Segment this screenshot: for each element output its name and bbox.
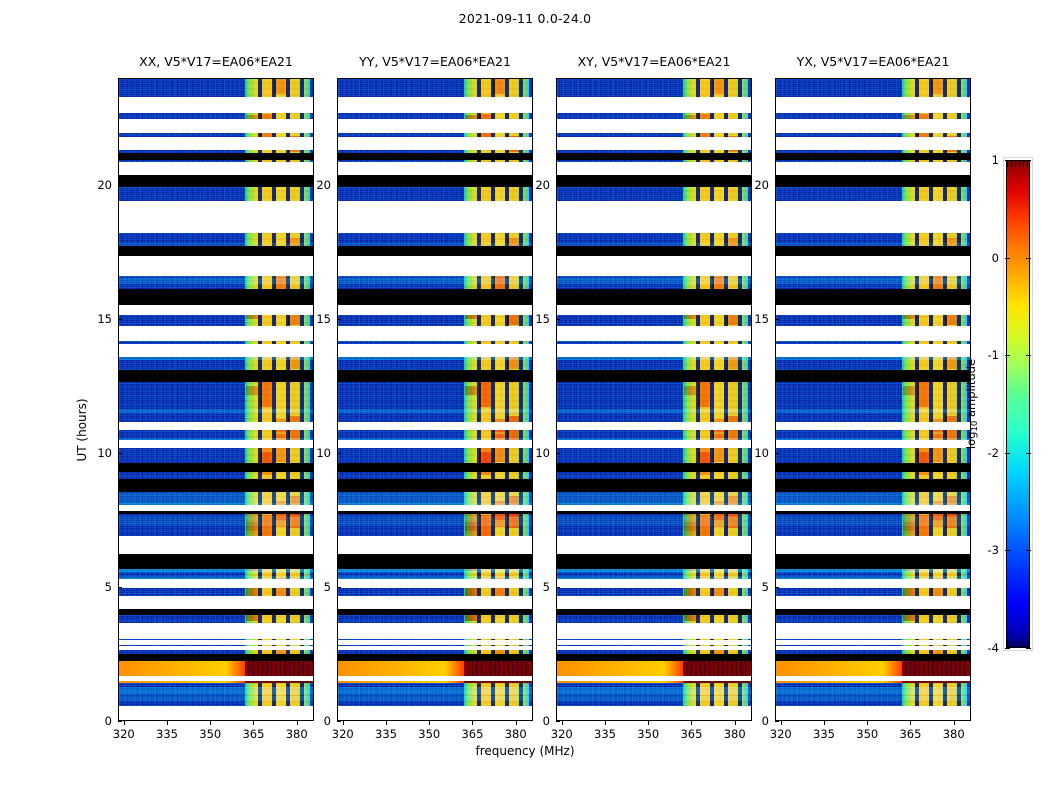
flagged-data-row: [776, 137, 970, 150]
colorbar-tick: [1026, 453, 1031, 454]
scan-boundary-row: [776, 463, 970, 472]
x-tick: [253, 721, 254, 725]
flagged-data-row: [776, 256, 970, 267]
flagged-data-row: [338, 640, 532, 645]
flagged-data-row: [119, 583, 313, 588]
y-tick-label: 15: [316, 312, 331, 326]
flagged-data-row: [557, 422, 751, 430]
flagged-data-row: [776, 422, 970, 430]
rfi-hot-block: [698, 378, 710, 407]
y-tick-label: 5: [105, 580, 112, 594]
flagged-data-row: [338, 583, 532, 588]
flagged-data-row: [119, 213, 313, 228]
y-tick: [775, 185, 779, 186]
flagged-data-row: [119, 97, 313, 113]
flagged-data-row: [776, 583, 970, 588]
flagged-data-row: [557, 623, 751, 639]
flagged-data-row: [338, 536, 532, 549]
dynamic-spectrum-image: [776, 79, 970, 720]
flagged-data-row: [119, 422, 313, 430]
flagged-data-row: [338, 327, 532, 334]
colorbar-overflow-marker-bottom: [1007, 641, 1029, 647]
time-variable-row: [338, 696, 532, 701]
y-tick: [118, 721, 122, 722]
y-tick: [556, 185, 560, 186]
panel-title: YY, V5*V17=EA06*EA21: [359, 54, 511, 69]
figure-canvas: 2021-09-11 0.0-24.0 XX, V5*V17=EA06*EA21…: [0, 0, 1050, 800]
time-variable-row: [119, 516, 313, 527]
x-tick-label: 365: [680, 727, 702, 741]
y-tick-label: 0: [762, 714, 769, 728]
y-tick-label: 10: [97, 446, 112, 460]
flagged-data-row: [338, 596, 532, 609]
flagged-data-row: [338, 676, 532, 681]
x-tick-label: 365: [242, 727, 264, 741]
flagged-data-row: [557, 305, 751, 314]
time-variable-row: [776, 687, 970, 695]
flagged-data-row: [557, 596, 751, 609]
flagged-data-row: [776, 596, 970, 609]
y-tick: [337, 453, 341, 454]
spectrogram-axes[interactable]: [337, 78, 533, 721]
flagged-data-row: [338, 349, 532, 357]
rfi-hot-block: [903, 386, 915, 395]
scan-boundary-row: [119, 289, 313, 305]
x-tick-label: 335: [375, 727, 397, 741]
spectrogram-axes[interactable]: [118, 78, 314, 721]
x-tick-label: 320: [551, 727, 573, 741]
flagged-data-row: [338, 256, 532, 267]
x-tick-label: 350: [199, 727, 221, 741]
flagged-data-row: [338, 706, 532, 720]
time-variable-row: [119, 409, 313, 413]
flagged-data-row: [338, 422, 532, 430]
colorbar-tick-label: -3: [988, 543, 999, 557]
scan-boundary-row: [557, 175, 751, 186]
flagged-data-row: [776, 305, 970, 314]
flagged-data-row: [557, 97, 751, 113]
time-variable-row: [338, 687, 532, 695]
colorbar-tick: [1026, 258, 1031, 259]
spectrogram-axes[interactable]: [556, 78, 752, 721]
flagged-data-row: [776, 97, 970, 113]
y-tick-label: 20: [97, 178, 112, 192]
colorbar-tick: [1026, 648, 1031, 649]
colorbar-label-suffix: amplitude: [964, 359, 978, 421]
x-tick: [910, 721, 911, 725]
y-tick-label: 5: [543, 580, 550, 594]
rfi-hot-block: [465, 386, 477, 395]
flagged-data-row: [776, 327, 970, 334]
colorbar-tick: [1026, 355, 1031, 356]
flagged-data-row: [557, 137, 751, 150]
x-tick: [210, 721, 211, 725]
time-variable-row: [338, 516, 532, 527]
colorbar-tick: [1005, 453, 1010, 454]
x-tick: [297, 721, 298, 725]
scan-boundary-row: [557, 554, 751, 569]
y-tick-label: 10: [535, 446, 550, 460]
colorbar-overflow-marker-top: [1007, 161, 1029, 167]
x-tick: [124, 721, 125, 725]
colorbar-tick-label: -4: [988, 641, 999, 655]
scan-boundary-row: [119, 370, 313, 382]
time-variable-row: [557, 696, 751, 701]
flagged-data-row: [557, 646, 751, 650]
y-tick: [337, 319, 341, 320]
flagged-data-row: [119, 137, 313, 150]
y-tick-label: 0: [543, 714, 550, 728]
scan-boundary-row: [776, 482, 970, 492]
y-tick: [118, 453, 122, 454]
time-variable-row: [776, 516, 970, 527]
flagged-data-row: [338, 305, 532, 314]
x-tick: [429, 721, 430, 725]
panel-yx: YX, V5*V17=EA06*EA2132033535036538005101…: [775, 78, 971, 721]
flagged-data-row: [776, 623, 970, 639]
y-tick: [337, 587, 341, 588]
flagged-data-row: [338, 137, 532, 150]
time-variable-row: [776, 278, 970, 284]
panel-yy: YY, V5*V17=EA06*EA2132033535036538005101…: [337, 78, 533, 721]
flagged-data-row: [776, 706, 970, 720]
flagged-data-row: [338, 646, 532, 650]
y-tick-label: 10: [316, 446, 331, 460]
x-tick-label: 380: [505, 727, 527, 741]
flagged-data-row: [119, 119, 313, 132]
time-variable-row: [776, 409, 970, 413]
scan-boundary-row: [338, 463, 532, 472]
rfi-hot-block: [684, 386, 696, 395]
y-tick: [118, 587, 122, 588]
rfi-hot-block: [917, 378, 929, 407]
flagged-data-row: [119, 440, 313, 448]
scan-boundary-row: [557, 654, 751, 661]
colorbar-label-prefix: log: [964, 432, 978, 450]
x-tick-label: 350: [856, 727, 878, 741]
scan-boundary-row: [776, 654, 970, 661]
y-tick: [775, 587, 779, 588]
time-variable-row: [119, 696, 313, 701]
scan-boundary-row: [338, 153, 532, 160]
rfi-hot-block: [931, 78, 943, 94]
y-tick: [556, 721, 560, 722]
y-tick: [118, 319, 122, 320]
x-tick: [516, 721, 517, 725]
x-tick: [386, 721, 387, 725]
flagged-data-row: [776, 505, 970, 511]
flagged-data-row: [557, 440, 751, 448]
flagged-data-row: [338, 119, 532, 132]
y-tick-label: 5: [324, 580, 331, 594]
x-tick-label: 320: [113, 727, 135, 741]
y-tick: [775, 319, 779, 320]
x-tick: [648, 721, 649, 725]
scan-boundary-row: [119, 153, 313, 160]
scan-boundary-row: [338, 175, 532, 186]
panel-title: YX, V5*V17=EA06*EA21: [797, 54, 950, 69]
flagged-data-row: [338, 505, 532, 511]
y-tick-label: 20: [316, 178, 331, 192]
time-variable-row: [557, 409, 751, 413]
flagged-data-row: [557, 505, 751, 511]
rfi-hot-block: [479, 378, 491, 407]
scan-boundary-row: [557, 463, 751, 472]
scan-boundary-row: [338, 370, 532, 382]
scan-boundary-row: [338, 654, 532, 661]
flagged-data-row: [119, 505, 313, 511]
dynamic-spectrum-image: [119, 79, 313, 720]
flagged-data-row: [119, 646, 313, 650]
y-tick: [337, 721, 341, 722]
time-variable-row: [776, 696, 970, 701]
colorbar-tick: [1026, 550, 1031, 551]
flagged-data-row: [776, 640, 970, 645]
scan-boundary-row: [557, 482, 751, 492]
y-tick-label: 15: [754, 312, 769, 326]
x-tick: [167, 721, 168, 725]
time-variable-row: [338, 409, 532, 413]
time-variable-row: [338, 278, 532, 284]
colorbar-tick: [1005, 355, 1010, 356]
flagged-data-row: [119, 305, 313, 314]
scan-boundary-row: [119, 554, 313, 569]
scan-boundary-row: [119, 482, 313, 492]
y-tick-label: 0: [324, 714, 331, 728]
y-tick-label: 20: [535, 178, 550, 192]
flagged-data-row: [119, 676, 313, 681]
rfi-hot-block: [246, 386, 258, 395]
y-tick-label: 20: [754, 178, 769, 192]
x-tick-label: 380: [724, 727, 746, 741]
colorbar-label: log10 amplitude: [964, 359, 980, 449]
y-tick: [118, 185, 122, 186]
colorbar-gradient: [1006, 160, 1030, 648]
flagged-data-row: [338, 97, 532, 113]
x-tick: [781, 721, 782, 725]
y-axis-label: UT (hours): [75, 398, 89, 461]
flagged-data-row: [557, 327, 751, 334]
x-tick-label: 380: [286, 727, 308, 741]
scan-boundary-row: [119, 175, 313, 186]
dynamic-spectrum-image: [557, 79, 751, 720]
x-axis-label: frequency (MHz): [0, 744, 1050, 758]
x-tick: [562, 721, 563, 725]
flagged-data-row: [776, 440, 970, 448]
scan-boundary-row: [119, 463, 313, 472]
flagged-data-row: [557, 536, 751, 549]
flagged-data-row: [776, 536, 970, 549]
x-tick-label: 335: [594, 727, 616, 741]
flagged-data-row: [119, 706, 313, 720]
y-tick-label: 0: [105, 714, 112, 728]
flagged-data-row: [338, 213, 532, 228]
x-tick-label: 335: [813, 727, 835, 741]
flagged-data-row: [776, 676, 970, 681]
x-tick: [735, 721, 736, 725]
x-tick: [691, 721, 692, 725]
x-tick-label: 380: [943, 727, 965, 741]
panel-xx: XX, V5*V17=EA06*EA2132033535036538005101…: [118, 78, 314, 721]
x-tick: [954, 721, 955, 725]
time-variable-row: [119, 687, 313, 695]
flagged-data-row: [557, 583, 751, 588]
x-tick: [472, 721, 473, 725]
x-tick: [824, 721, 825, 725]
panel-title: XY, V5*V17=EA06*EA21: [578, 54, 731, 69]
scan-boundary-row: [776, 554, 970, 569]
flagged-data-row: [119, 640, 313, 645]
rfi-hot-block: [493, 78, 505, 94]
y-tick: [775, 721, 779, 722]
colorbar-tick: [1005, 550, 1010, 551]
x-tick-label: 320: [332, 727, 354, 741]
y-tick-label: 15: [97, 312, 112, 326]
scan-boundary-row: [557, 289, 751, 305]
flagged-data-row: [776, 119, 970, 132]
flagged-data-row: [119, 349, 313, 357]
y-tick-label: 15: [535, 312, 550, 326]
colorbar-label-subscript: 10: [970, 421, 980, 432]
flagged-data-row: [557, 640, 751, 645]
scan-boundary-row: [776, 370, 970, 382]
colorbar[interactable]: 10-1-2-3-4: [1006, 160, 1030, 648]
y-tick-label: 10: [754, 446, 769, 460]
colorbar-tick: [1005, 258, 1010, 259]
x-tick: [343, 721, 344, 725]
scan-boundary-row: [338, 482, 532, 492]
time-variable-row: [557, 278, 751, 284]
colorbar-tick-label: -1: [988, 348, 999, 362]
flagged-data-row: [557, 213, 751, 228]
colorbar-tick-label: -2: [988, 446, 999, 460]
scan-boundary-row: [338, 289, 532, 305]
flagged-data-row: [338, 440, 532, 448]
x-tick-label: 350: [637, 727, 659, 741]
flagged-data-row: [557, 706, 751, 720]
rfi-hot-block: [274, 78, 286, 94]
x-tick-label: 335: [156, 727, 178, 741]
panel-xy: XY, V5*V17=EA06*EA2132033535036538005101…: [556, 78, 752, 721]
colorbar-tick: [1005, 648, 1010, 649]
scan-boundary-row: [338, 554, 532, 569]
x-tick: [605, 721, 606, 725]
y-tick: [775, 453, 779, 454]
flagged-data-row: [119, 596, 313, 609]
y-tick: [337, 185, 341, 186]
scan-boundary-row: [119, 654, 313, 661]
flagged-data-row: [119, 256, 313, 267]
x-tick-label: 365: [899, 727, 921, 741]
figure-suptitle: 2021-09-11 0.0-24.0: [0, 11, 1050, 26]
scan-boundary-row: [776, 175, 970, 186]
rfi-hot-block: [260, 378, 272, 407]
scan-boundary-row: [557, 370, 751, 382]
time-variable-row: [557, 687, 751, 695]
x-tick-label: 320: [770, 727, 792, 741]
flagged-data-row: [119, 327, 313, 334]
scan-boundary-row: [557, 153, 751, 160]
flagged-data-row: [557, 119, 751, 132]
y-tick: [556, 453, 560, 454]
x-tick: [867, 721, 868, 725]
colorbar-tick-label: 0: [992, 251, 999, 265]
y-tick: [556, 319, 560, 320]
panel-title: XX, V5*V17=EA06*EA21: [139, 54, 293, 69]
x-tick-label: 350: [418, 727, 440, 741]
y-tick-label: 5: [762, 580, 769, 594]
scan-boundary-row: [776, 289, 970, 305]
flagged-data-row: [776, 349, 970, 357]
flagged-data-row: [119, 623, 313, 639]
x-tick-label: 365: [461, 727, 483, 741]
flagged-data-row: [338, 623, 532, 639]
flagged-data-row: [119, 536, 313, 549]
time-variable-row: [119, 278, 313, 284]
spectrogram-axes[interactable]: [775, 78, 971, 721]
flagged-data-row: [776, 646, 970, 650]
time-variable-row: [557, 516, 751, 527]
colorbar-tick-label: 1: [992, 153, 999, 167]
rfi-hot-block: [712, 78, 724, 94]
flagged-data-row: [557, 256, 751, 267]
scan-boundary-row: [776, 153, 970, 160]
flagged-data-row: [557, 676, 751, 681]
flagged-data-row: [557, 349, 751, 357]
flagged-data-row: [776, 213, 970, 228]
dynamic-spectrum-image: [338, 79, 532, 720]
y-tick: [556, 587, 560, 588]
